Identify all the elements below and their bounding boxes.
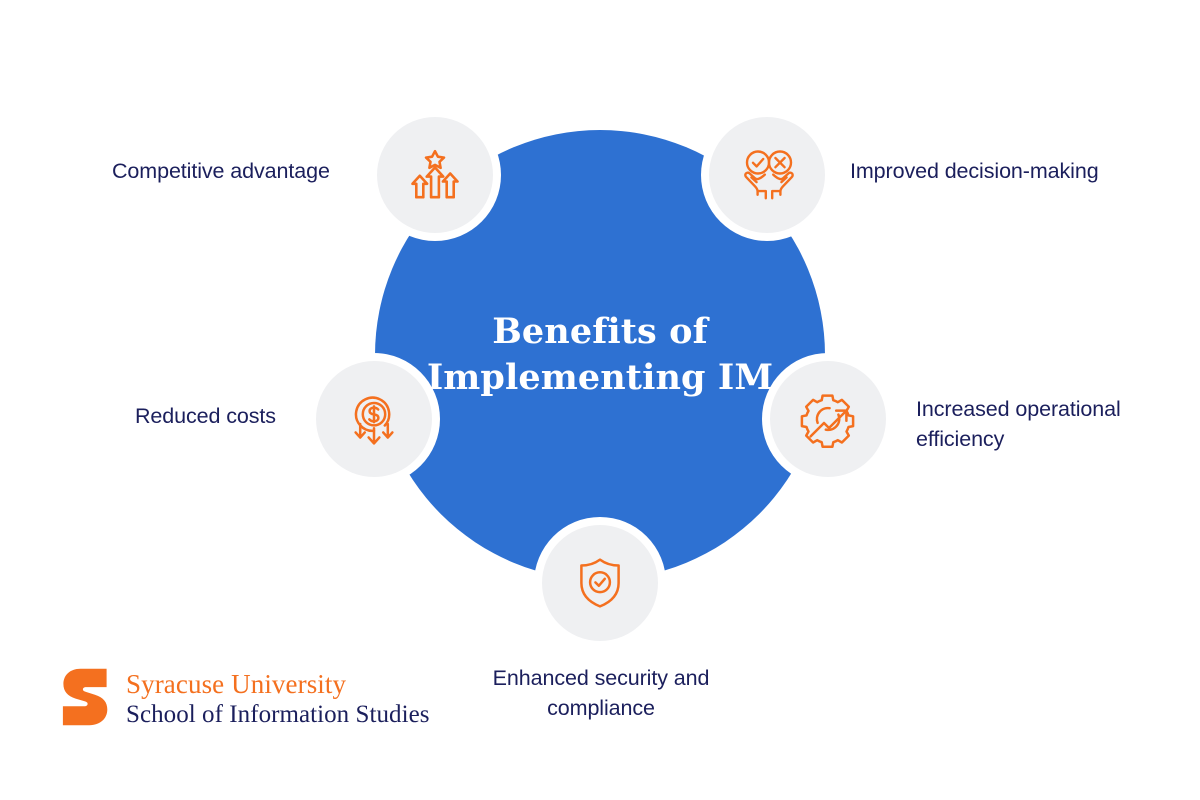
node-reduced-costs-disc [316, 361, 432, 477]
node-competitive-advantage[interactable] [369, 109, 501, 241]
dollar-coin-with-down-arrows-icon [343, 388, 405, 450]
syracuse-block-s-icon [62, 668, 112, 731]
label-improved-decision-making: Improved decision-making [850, 157, 1099, 187]
shield-with-check-icon [571, 554, 629, 612]
label-enhanced-security-and-compliance: Enhanced security and compliance [468, 664, 734, 723]
label-competitive-advantage: Competitive advantage [112, 157, 330, 187]
node-reduced-costs[interactable] [308, 353, 440, 485]
gear-with-trending-up-arrow-icon [797, 388, 859, 450]
node-increased-operational-efficiency-disc [770, 361, 886, 477]
label-increased-operational-efficiency: Increased operational efficiency [916, 395, 1121, 454]
node-improved-decision-making[interactable] [701, 109, 833, 241]
node-enhanced-security-and-compliance-disc [542, 525, 658, 641]
node-competitive-advantage-disc [377, 117, 493, 233]
node-increased-operational-efficiency[interactable] [762, 353, 894, 485]
node-improved-decision-making-disc [709, 117, 825, 233]
syracuse-university-logo: Syracuse University School of Informatio… [62, 668, 430, 731]
infographic-canvas: Benefits of Implementing IM [0, 0, 1200, 800]
label-reduced-costs: Reduced costs [135, 402, 276, 432]
three-rising-arrows-with-star-icon [404, 144, 466, 206]
node-enhanced-security-and-compliance[interactable] [534, 517, 666, 649]
hands-holding-check-and-cross-icon [735, 143, 799, 207]
syracuse-logo-text: Syracuse University School of Informatio… [126, 670, 430, 729]
syracuse-university-wordmark: Syracuse University [126, 670, 430, 699]
school-of-information-studies-wordmark: School of Information Studies [126, 701, 430, 729]
